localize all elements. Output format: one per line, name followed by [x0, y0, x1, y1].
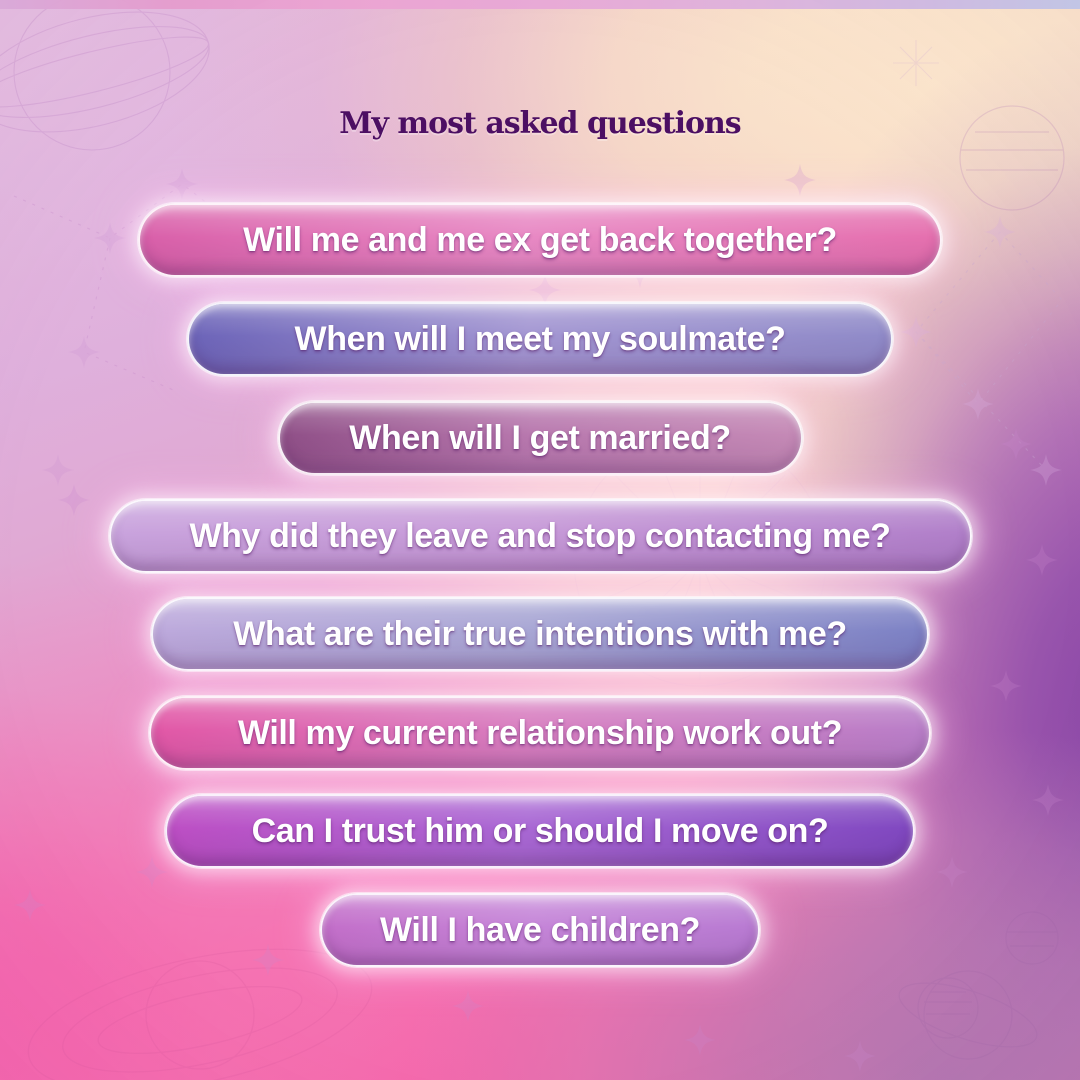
question-pill-label: When will I meet my soulmate? — [295, 320, 786, 359]
question-row: Why did they leave and stop contacting m… — [0, 499, 1080, 573]
question-pill-label: Will I have children? — [380, 911, 700, 950]
question-pill-label: What are their true intentions with me? — [233, 615, 846, 654]
question-pill-label: Why did they leave and stop contacting m… — [189, 517, 890, 556]
question-row: Will I have children? — [0, 893, 1080, 967]
question-pill-label: When will I get married? — [349, 419, 730, 458]
question-pill-q1[interactable]: Will me and me ex get back together? — [138, 203, 942, 277]
question-row: When will I meet my soulmate? — [0, 302, 1080, 376]
top-edge-strip — [0, 0, 1080, 9]
question-pill-q4[interactable]: Why did they leave and stop contacting m… — [109, 499, 972, 573]
question-pill-q2[interactable]: When will I meet my soulmate? — [187, 302, 893, 376]
question-pill-q7[interactable]: Can I trust him or should I move on? — [165, 794, 915, 868]
question-row: When will I get married? — [0, 401, 1080, 475]
question-pill-q6[interactable]: Will my current relationship work out? — [149, 696, 931, 770]
question-row: What are their true intentions with me? — [0, 597, 1080, 671]
question-pill-q3[interactable]: When will I get married? — [278, 401, 803, 475]
page-title: My most asked questions — [0, 76, 1080, 172]
question-pill-label: Will my current relationship work out? — [238, 714, 842, 753]
question-pill-q5[interactable]: What are their true intentions with me? — [151, 597, 929, 671]
question-row: Will my current relationship work out? — [0, 696, 1080, 770]
question-row: Can I trust him or should I move on? — [0, 794, 1080, 868]
question-pill-label: Can I trust him or should I move on? — [252, 812, 829, 851]
question-pill-label: Will me and me ex get back together? — [243, 221, 837, 260]
question-row: Will me and me ex get back together? — [0, 203, 1080, 277]
poster-canvas: My most asked questions Will me and me e… — [0, 0, 1080, 1080]
question-pill-q8[interactable]: Will I have children? — [320, 893, 760, 967]
